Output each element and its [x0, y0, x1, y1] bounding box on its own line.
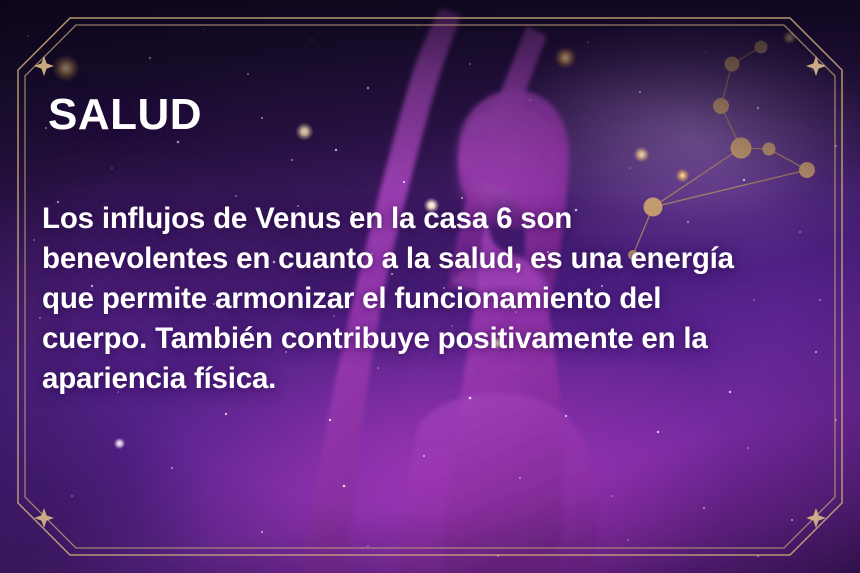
- woman-silhouette: [215, 0, 635, 573]
- constellation-graphic: [595, 25, 860, 270]
- glow-star: [296, 123, 313, 140]
- body-line: cuerpo. También contribuye positivamente…: [42, 319, 842, 359]
- glow-star: [676, 169, 689, 182]
- body-line: Los influjos de Venus en la casa 6 son: [42, 199, 842, 239]
- page-title: SALUD: [48, 93, 202, 137]
- glow-star: [114, 438, 125, 449]
- glow-star: [555, 47, 576, 68]
- nebula-clouds: [0, 0, 860, 573]
- card-content: SALUD Los influjos de Venus en la casa 6…: [0, 0, 860, 573]
- body-line: que permite armonizar el funcionamiento …: [42, 279, 842, 319]
- vignette-overlay: [0, 0, 860, 573]
- body-line: apariencia física.: [42, 359, 842, 399]
- glow-star: [53, 55, 79, 81]
- glow-star: [491, 337, 503, 349]
- starfield-background: [0, 0, 860, 573]
- glow-star: [783, 31, 796, 44]
- body-line: benevolentes en cuanto a la salud, es un…: [42, 239, 842, 279]
- glow-star: [424, 198, 439, 213]
- glow-stars: [0, 0, 860, 573]
- starfield-foreground: [0, 0, 860, 573]
- glow-star: [634, 147, 649, 162]
- horoscope-card: SALUD Los influjos de Venus en la casa 6…: [0, 0, 860, 573]
- decorative-gold-frame: [0, 0, 860, 573]
- body-paragraph: Los influjos de Venus en la casa 6 son b…: [42, 199, 842, 399]
- background-gradient: [0, 0, 860, 573]
